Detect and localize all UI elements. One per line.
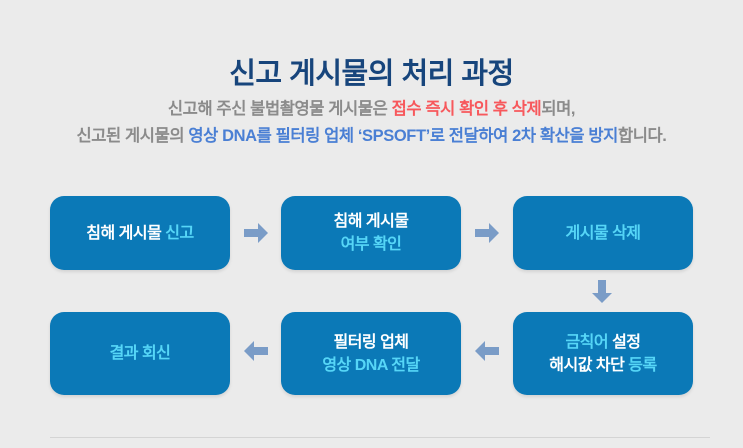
description-line-2-part-2: 합니다. bbox=[618, 127, 667, 145]
flow-step-segment: 등록 bbox=[628, 357, 656, 374]
flow-step-segment: 필터링 업체 bbox=[333, 334, 408, 351]
description-line-2: 신고된 게시물의 영상 DNA를 필터링 업체 ‘SPSOFT’로 전달하여 2… bbox=[0, 123, 743, 150]
flow-step-segment: 해시값 차단 bbox=[549, 357, 628, 374]
flow-step-filter-transfer[interactable]: 필터링 업체 영상 DNA 전달 bbox=[281, 312, 461, 395]
description-line-1-part-1: 신고해 주신 불법촬영물 게시물은 bbox=[168, 100, 392, 118]
description-line-1-part-2: 되며, bbox=[541, 100, 575, 118]
flow-step-segment: 침해 게시물 bbox=[86, 225, 165, 242]
flow-step-report[interactable]: 침해 게시물 신고 bbox=[50, 196, 230, 270]
flow-step-segment: 여부 확인 bbox=[341, 236, 402, 253]
flow-step-label: 결과 회신 bbox=[110, 342, 171, 365]
flow-step-label: 침해 게시물 신고 bbox=[86, 222, 193, 245]
arrow-right-icon bbox=[473, 219, 501, 247]
arrow-left-icon bbox=[473, 337, 501, 365]
flow-step-segment: 결과 회신 bbox=[110, 345, 171, 362]
arrow-down-icon bbox=[588, 278, 616, 306]
flow-step-delete[interactable]: 게시물 삭제 bbox=[513, 196, 693, 270]
bottom-divider bbox=[50, 437, 710, 438]
flow-step-block-register[interactable]: 금칙어 설정 해시값 차단 등록 bbox=[513, 312, 693, 395]
flow-step-reply[interactable]: 결과 회신 bbox=[50, 312, 230, 395]
flow-step-segment: 영상 DNA 전달 bbox=[322, 357, 419, 374]
flow-step-label: 게시물 삭제 bbox=[565, 222, 640, 245]
description-line-1-highlight: 접수 즉시 확인 후 삭제 bbox=[392, 100, 542, 118]
arrow-right-icon bbox=[242, 219, 270, 247]
process-infographic: 신고 게시물의 처리 과정 신고해 주신 불법촬영물 게시물은 접수 즉시 확인… bbox=[0, 0, 743, 448]
flow-step-segment: 금칙어 bbox=[565, 334, 612, 351]
flow-step-label: 침해 게시물 여부 확인 bbox=[333, 210, 408, 256]
description-line-1: 신고해 주신 불법촬영물 게시물은 접수 즉시 확인 후 삭제되며, bbox=[0, 96, 743, 123]
flow-step-verify[interactable]: 침해 게시물 여부 확인 bbox=[281, 196, 461, 270]
flow-step-segment: 침해 게시물 bbox=[333, 213, 408, 230]
flow-step-segment: 신고 bbox=[165, 225, 193, 242]
description-block: 신고해 주신 불법촬영물 게시물은 접수 즉시 확인 후 삭제되며, 신고된 게… bbox=[0, 96, 743, 150]
flow-step-label: 금칙어 설정 해시값 차단 등록 bbox=[549, 331, 656, 377]
flow-step-label: 필터링 업체 영상 DNA 전달 bbox=[322, 331, 419, 377]
flow-step-segment: 게시물 삭제 bbox=[565, 225, 640, 242]
description-line-2-part-1: 신고된 게시물의 bbox=[77, 127, 189, 145]
arrow-left-icon bbox=[242, 337, 270, 365]
description-line-2-highlight: 영상 DNA를 필터링 업체 ‘SPSOFT’로 전달하여 2차 확산을 방지 bbox=[188, 127, 618, 145]
page-title: 신고 게시물의 처리 과정 bbox=[0, 57, 743, 92]
flow-step-segment: 설정 bbox=[612, 334, 640, 351]
